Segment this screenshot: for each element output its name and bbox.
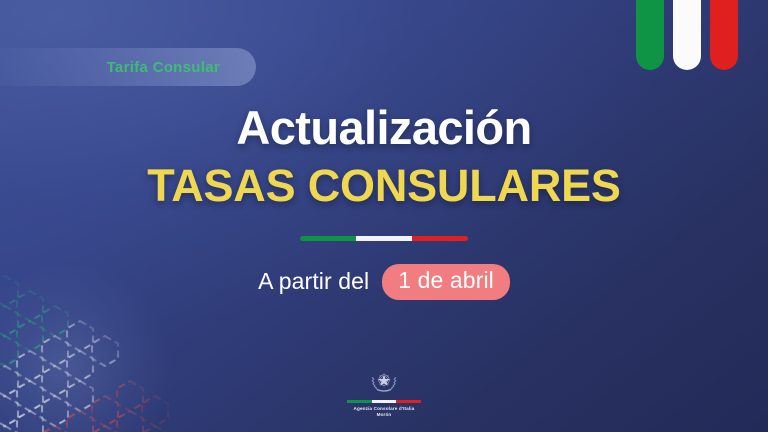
italy-republic-emblem-icon [369, 367, 399, 397]
page-subtitle-headline: TASAS CONSULARES [147, 163, 621, 209]
organization-city: Morón [377, 412, 392, 419]
logo-divider-red [396, 400, 421, 403]
flag-bar-white [673, 0, 701, 70]
divider-red [412, 236, 468, 241]
organization-name: Agenzia Consolare d'Italia [354, 406, 415, 413]
italy-flag-bars [636, 0, 738, 70]
logo-divider-white [372, 400, 397, 403]
eyebrow-label: Tarifa Consular [107, 59, 220, 76]
effective-date-row: A partir del 1 de abril [258, 264, 510, 300]
flag-bar-green [636, 0, 664, 70]
eyebrow-badge: Tarifa Consular [0, 48, 256, 86]
slide-canvas: Tarifa Consular Actualización TASAS CONS… [0, 0, 768, 432]
effective-date-prefix: A partir del [258, 268, 369, 295]
logo-tricolor-rule [347, 400, 421, 403]
logo-divider-green [347, 400, 372, 403]
footer-logo-lockup: Agenzia Consolare d'Italia Morón [0, 367, 768, 419]
headline-stack: Actualización TASAS CONSULARES A partir … [0, 104, 768, 300]
divider-white [356, 236, 412, 241]
divider-green [300, 236, 356, 241]
tricolor-divider [300, 236, 468, 241]
flag-bar-red [710, 0, 738, 70]
page-title: Actualización [236, 104, 531, 152]
effective-date-badge: 1 de abril [382, 264, 510, 300]
